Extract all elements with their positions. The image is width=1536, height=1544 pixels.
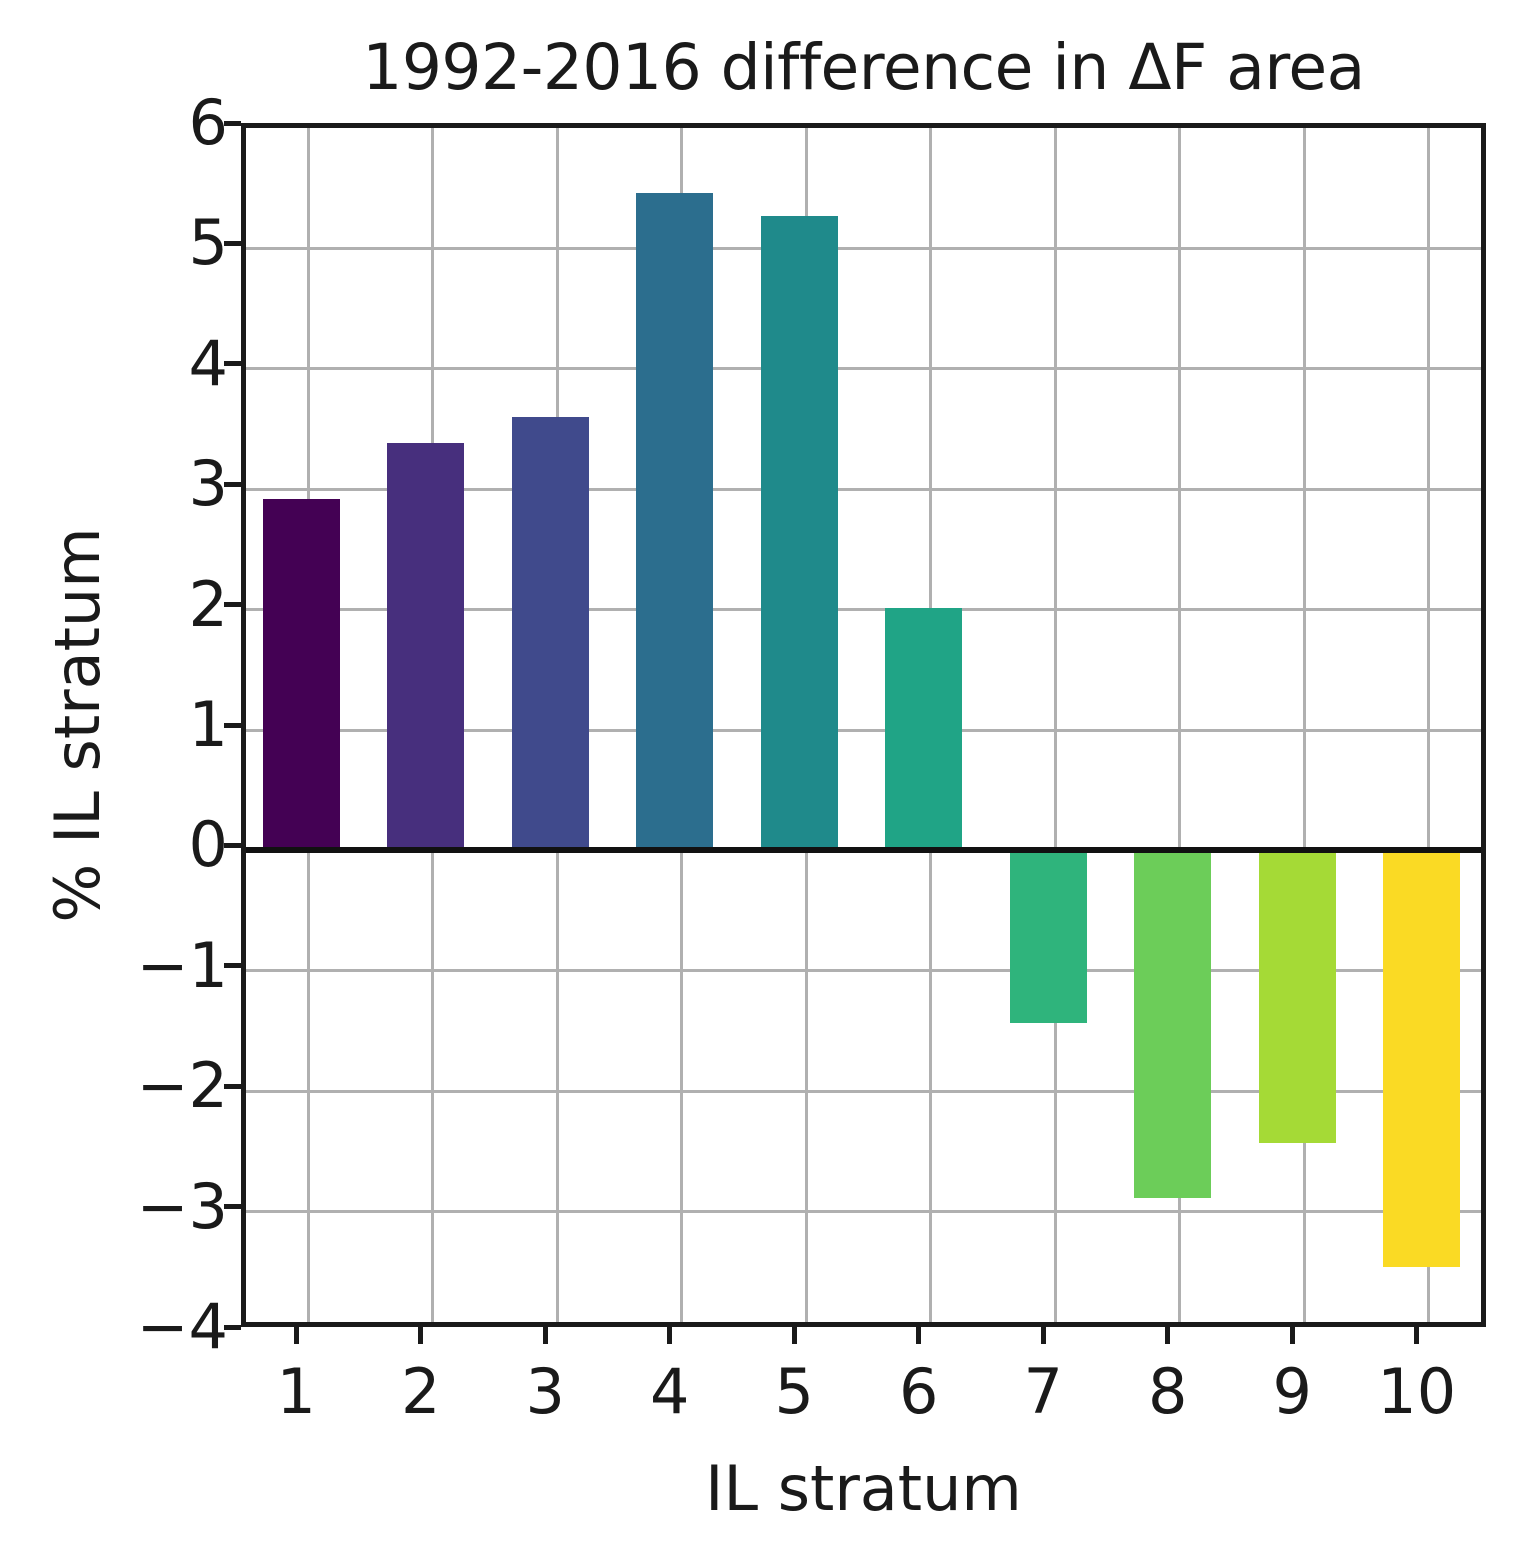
y-tick-mark bbox=[224, 482, 241, 487]
bar-stratum-4[interactable] bbox=[636, 193, 713, 850]
x-tick-mark bbox=[294, 1327, 299, 1344]
x-tick-mark bbox=[1165, 1327, 1170, 1344]
plot-area bbox=[241, 123, 1486, 1327]
x-tick-mark bbox=[916, 1327, 921, 1344]
x-tick-mark bbox=[418, 1327, 423, 1344]
y-tick-label: 1 bbox=[0, 694, 228, 756]
bar-stratum-7[interactable] bbox=[1010, 850, 1087, 1022]
y-tick-mark bbox=[224, 1325, 241, 1330]
bar-stratum-2[interactable] bbox=[387, 443, 464, 850]
y-tick-mark bbox=[224, 602, 241, 607]
x-tick-label: 10 bbox=[1337, 1355, 1497, 1429]
plot-inner bbox=[246, 128, 1481, 1322]
y-tick-mark bbox=[224, 843, 241, 848]
y-tick-label: −3 bbox=[0, 1176, 228, 1238]
x-tick-mark bbox=[667, 1327, 672, 1344]
y-tick-mark bbox=[224, 121, 241, 126]
x-tick-mark bbox=[1290, 1327, 1295, 1344]
y-tick-mark bbox=[224, 361, 241, 366]
bar-stratum-6[interactable] bbox=[885, 608, 962, 850]
x-tick-mark bbox=[792, 1327, 797, 1344]
y-tick-mark bbox=[224, 1204, 241, 1209]
y-tick-label: −4 bbox=[0, 1296, 228, 1358]
x-tick-mark bbox=[1041, 1327, 1046, 1344]
y-tick-label: 2 bbox=[0, 574, 228, 636]
bar-stratum-8[interactable] bbox=[1134, 850, 1211, 1198]
x-tick-mark bbox=[543, 1327, 548, 1344]
y-tick-label: 4 bbox=[0, 333, 228, 395]
x-axis-label: IL stratum bbox=[241, 1452, 1486, 1526]
bar-stratum-1[interactable] bbox=[263, 499, 340, 851]
y-tick-label: −2 bbox=[0, 1055, 228, 1117]
bar-stratum-9[interactable] bbox=[1259, 850, 1336, 1143]
bar-stratum-10[interactable] bbox=[1383, 850, 1460, 1267]
y-tick-label: 0 bbox=[0, 814, 228, 876]
bar-chart-figure: 1992-2016 difference in ΔF area % IL str… bbox=[0, 0, 1536, 1544]
bar-stratum-3[interactable] bbox=[512, 417, 589, 850]
zero-baseline bbox=[246, 847, 1481, 853]
y-tick-mark bbox=[224, 723, 241, 728]
y-tick-label: −1 bbox=[0, 935, 228, 997]
bar-stratum-5[interactable] bbox=[761, 216, 838, 851]
y-tick-label: 6 bbox=[0, 92, 228, 154]
gridline-vertical bbox=[1054, 128, 1057, 1322]
y-tick-mark bbox=[224, 963, 241, 968]
x-tick-mark bbox=[1414, 1327, 1419, 1344]
y-tick-label: 5 bbox=[0, 212, 228, 274]
y-tick-mark bbox=[224, 241, 241, 246]
chart-title: 1992-2016 difference in ΔF area bbox=[241, 30, 1486, 106]
y-tick-mark bbox=[224, 1084, 241, 1089]
y-tick-label: 3 bbox=[0, 453, 228, 515]
